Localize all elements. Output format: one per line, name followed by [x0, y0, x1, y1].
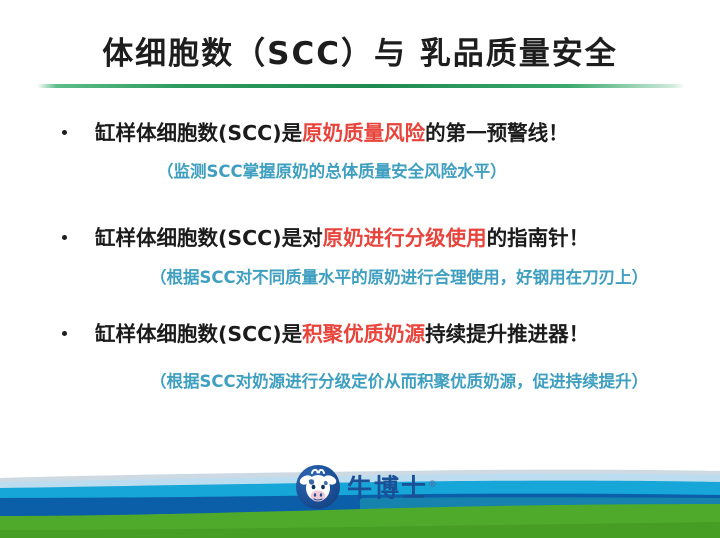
bullet-marker-icon: [62, 235, 67, 240]
bullet-item-3: 缸样体细胞数(SCC)是积聚优质奶源持续提升推进器！ （根据SCC对奶源进行分级…: [0, 319, 720, 395]
presentation-slide: 体细胞数（SCC）与 乳品质量安全 缸样体细胞数(SCC)是原奶质量风险的第一预…: [0, 0, 720, 538]
bullet-item-1: 缸样体细胞数(SCC)是原奶质量风险的第一预警线！ （监测SCC掌握原奶的总体质…: [0, 118, 720, 185]
cow-head-icon: [296, 465, 340, 509]
spacer-1: [0, 185, 720, 223]
brand-name: 牛博士®: [347, 463, 437, 510]
slide-title-block: 体细胞数（SCC）与 乳品质量安全: [0, 34, 720, 74]
title-underline-rule: [37, 84, 685, 88]
bullet-text-1: 缸样体细胞数(SCC)是原奶质量风险的第一预警线！: [95, 118, 720, 148]
slide-body: 缸样体细胞数(SCC)是原奶质量风险的第一预警线！ （监测SCC掌握原奶的总体质…: [0, 118, 720, 395]
bullet-2-tail: 的指南针！: [487, 226, 590, 250]
brand-logo: 牛博士®: [296, 464, 446, 510]
bullet-1-tail: 的第一预警线！: [425, 121, 569, 145]
bullet-text-2: 缸样体细胞数(SCC)是对原奶进行分级使用的指南针！: [95, 223, 720, 253]
bullet-note-3: （根据SCC对奶源进行分级定价从而积聚优质奶源，促进持续提升）: [150, 369, 720, 395]
bullet-3-lead: 缸样体细胞数(SCC)是: [95, 322, 302, 346]
spacer-2: [0, 291, 720, 319]
bullet-item-2: 缸样体细胞数(SCC)是对原奶进行分级使用的指南针！ （根据SCC对不同质量水平…: [0, 223, 720, 291]
page-title: 体细胞数（SCC）与 乳品质量安全: [0, 34, 720, 74]
brand-name-text: 牛博士: [347, 474, 428, 503]
bullet-2-lead: 缸样体细胞数(SCC)是对: [95, 226, 323, 250]
bullet-note-1: （监测SCC掌握原奶的总体质量安全风险水平）: [157, 159, 720, 185]
bullet-marker-icon: [62, 331, 67, 336]
bullet-marker-icon: [62, 130, 67, 135]
bullet-3-highlight: 积聚优质奶源: [302, 322, 425, 346]
bullet-2-highlight: 原奶进行分级使用: [323, 226, 487, 250]
bullet-text-3: 缸样体细胞数(SCC)是积聚优质奶源持续提升推进器！: [95, 319, 720, 349]
bullet-1-lead: 缸样体细胞数(SCC)是: [95, 121, 302, 145]
bullet-3-tail: 持续提升推进器！: [425, 322, 589, 346]
cow-head-glyph: [296, 465, 340, 509]
registered-mark: ®: [428, 480, 437, 490]
bullet-1-highlight: 原奶质量风险: [302, 121, 425, 145]
bullet-note-2: （根据SCC对不同质量水平的原奶进行合理使用，好钢用在刀刃上）: [150, 265, 720, 291]
